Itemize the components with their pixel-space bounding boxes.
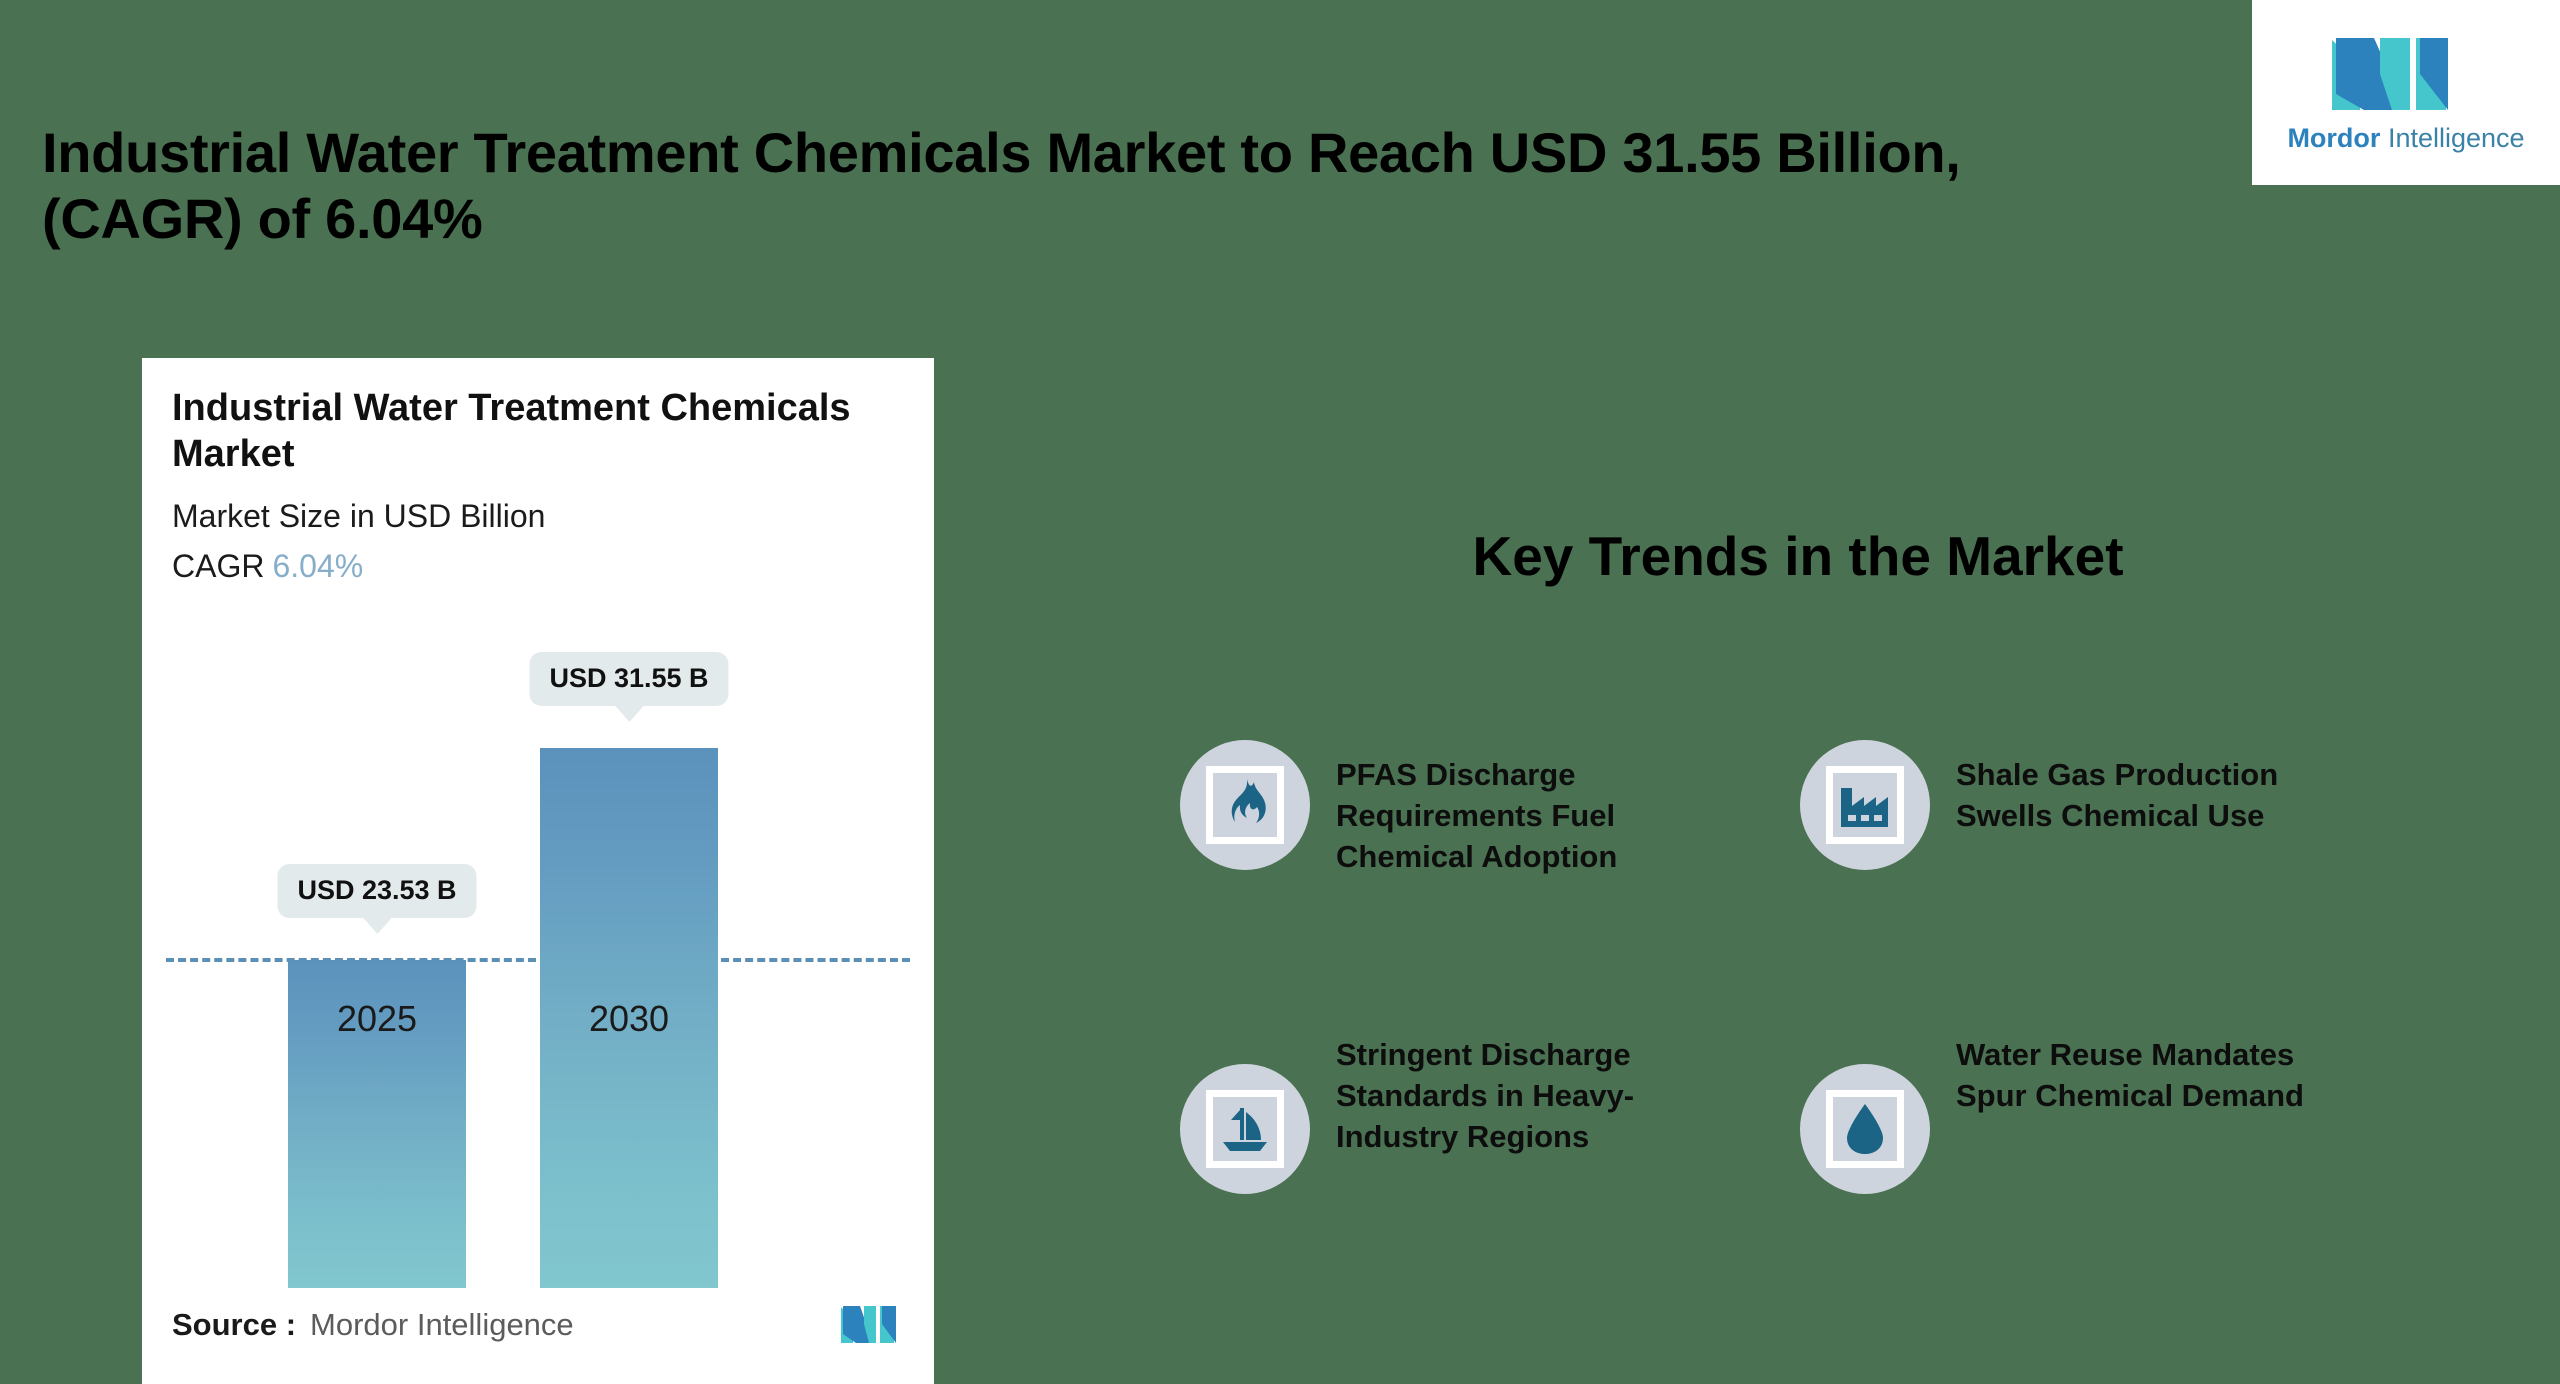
key-trends-heading: Key Trends in the Market — [1398, 524, 2198, 588]
bar-label-2030: USD 31.55 B — [529, 652, 728, 706]
bar-label-2025: USD 23.53 B — [277, 864, 476, 918]
brand-word-intelligence: Intelligence — [2388, 123, 2525, 153]
trend-label: Stringent Discharge Standards in Heavy-I… — [1336, 1020, 1736, 1158]
trend-icon-circle — [1180, 1064, 1310, 1194]
trend-label: Shale Gas Production Swells Chemical Use — [1956, 740, 2356, 836]
source-value: Mordor Intelligence — [310, 1307, 574, 1343]
reference-dashed-line — [166, 958, 910, 962]
trend-item-water-reuse[interactable]: Water Reuse Mandates Spur Chemical Deman… — [1800, 1020, 2420, 1300]
page-title: Industrial Water Treatment Chemicals Mar… — [42, 120, 2092, 252]
key-trends-grid: PFAS Discharge Requirements Fuel Chemica… — [1180, 740, 2420, 1300]
sailboat-icon — [1217, 1104, 1273, 1154]
mordor-m-logo-small-icon — [840, 1304, 902, 1346]
x-axis-label-2025: 2025 — [337, 998, 417, 1040]
bar-chart-plot: USD 23.53 B 2025 USD 31.55 B 2030 — [142, 608, 934, 1288]
trend-icon-circle — [1180, 740, 1310, 870]
trend-item-pfas-discharge[interactable]: PFAS Discharge Requirements Fuel Chemica… — [1180, 740, 1800, 1020]
icon-frame — [1826, 766, 1904, 844]
icon-frame — [1206, 766, 1284, 844]
x-axis-label-2030: 2030 — [589, 998, 669, 1040]
trend-icon-circle — [1800, 1064, 1930, 1194]
icon-frame — [1206, 1090, 1284, 1168]
chart-subtitle: Market Size in USD Billion — [172, 498, 545, 535]
flame-icon — [1222, 778, 1268, 832]
brand-logo: Mordor Intelligence — [2252, 0, 2560, 185]
source-row: Source : Mordor Intelligence — [172, 1304, 902, 1346]
cagr-label: CAGR — [172, 548, 264, 584]
cagr-value: 6.04% — [272, 548, 363, 584]
trend-label: Water Reuse Mandates Spur Chemical Deman… — [1956, 1020, 2356, 1116]
chart-card: Industrial Water Treatment Chemicals Mar… — [142, 358, 934, 1384]
chart-title: Industrial Water Treatment Chemicals Mar… — [172, 386, 912, 477]
brand-word-mordor: Mordor — [2287, 123, 2380, 153]
trend-label: PFAS Discharge Requirements Fuel Chemica… — [1336, 740, 1736, 878]
water-drop-icon — [1843, 1102, 1887, 1156]
chart-cagr: CAGR6.04% — [172, 548, 363, 585]
brand-wordmark: Mordor Intelligence — [2287, 125, 2524, 152]
source-label: Source : — [172, 1307, 296, 1343]
icon-frame — [1826, 1090, 1904, 1168]
trend-item-shale-gas[interactable]: Shale Gas Production Swells Chemical Use — [1800, 740, 2420, 1020]
factory-icon — [1838, 782, 1892, 828]
mordor-m-logo-icon — [2330, 34, 2482, 116]
trend-icon-circle — [1800, 740, 1930, 870]
trend-item-stringent-discharge[interactable]: Stringent Discharge Standards in Heavy-I… — [1180, 1020, 1800, 1300]
